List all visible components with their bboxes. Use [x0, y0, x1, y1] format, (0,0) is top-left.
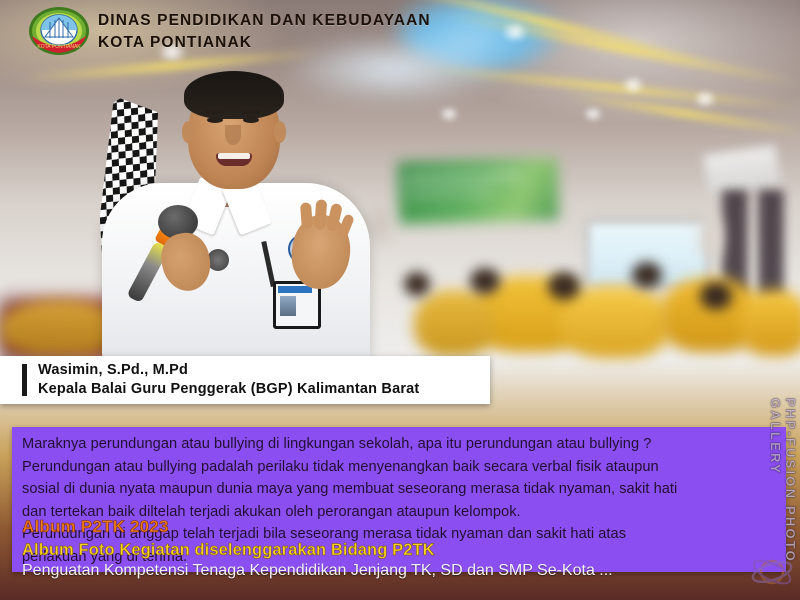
eye-left	[207, 117, 223, 123]
speaker-name-caption: Wasimin, S.Pd., M.Pd Kepala Balai Guru P…	[0, 356, 490, 404]
album-title: Album P2TK 2023	[22, 517, 169, 537]
speaker-name: Wasimin, S.Pd., M.Pd	[38, 361, 419, 380]
green-stage-banner	[397, 158, 559, 224]
eyebrow-left	[205, 110, 224, 114]
svg-text:KOTA PONTIANAK: KOTA PONTIANAK	[37, 44, 81, 50]
header-title-line2: KOTA PONTIANAK	[98, 32, 431, 54]
window-curtain	[758, 190, 784, 300]
speaker-position: Kepala Balai Guru Penggerak (BGP) Kalima…	[38, 380, 419, 399]
hair	[184, 71, 284, 119]
speaker-figure	[70, 65, 410, 355]
id-card-photo	[280, 296, 296, 316]
audience-head	[470, 268, 500, 294]
nose	[225, 125, 241, 145]
php-fusion-planet-logo-icon	[750, 548, 794, 592]
audience-head	[548, 272, 580, 300]
banner-text-blur	[404, 190, 494, 197]
audience-head	[632, 262, 662, 288]
header-title: DINAS PENDIDIKAN DAN KEBUDAYAAN KOTA PON…	[98, 10, 431, 54]
ceiling-downlight	[436, 108, 462, 120]
finger	[314, 199, 327, 230]
eye-right	[243, 117, 259, 123]
teeth	[218, 153, 250, 159]
id-card-header	[278, 286, 312, 293]
album-description: Penguatan Kompetensi Tenaga Kependidikan…	[22, 562, 613, 580]
caption-text: Wasimin, S.Pd., M.Pd Kepala Balai Guru P…	[38, 361, 419, 399]
gallery-photo-view: KOTA PONTIANAK DINAS PENDIDIKAN DAN KEBU…	[0, 0, 800, 600]
audience-seat	[414, 290, 494, 356]
eyebrow-right	[241, 110, 260, 114]
banner-text-blur	[404, 173, 524, 182]
lapel-pin-badge	[207, 249, 229, 271]
page-header: KOTA PONTIANAK DINAS PENDIDIKAN DAN KEBU…	[0, 0, 800, 62]
ceiling-downlight	[690, 92, 720, 106]
description-line: Maraknya perundungan atau bullying di li…	[22, 433, 778, 456]
ear-left	[182, 121, 194, 143]
album-subtitle: Album Foto Kegiatan diselenggarakan Bida…	[22, 541, 435, 560]
description-line: Perundungan atau bullying padalah perila…	[22, 456, 778, 479]
audience-seat	[560, 286, 670, 358]
finger	[300, 202, 313, 229]
audience-head	[700, 282, 732, 310]
standing-person	[700, 218, 722, 256]
description-line: sosial di dunia nyata maupun dunia maya …	[22, 478, 778, 501]
audience-seat	[740, 290, 800, 356]
header-title-line1: DINAS PENDIDIKAN DAN KEBUDAYAAN	[98, 10, 431, 32]
ceiling-downlight	[618, 78, 648, 92]
mouth	[216, 153, 252, 166]
ear-right	[274, 121, 286, 143]
ceiling-downlight	[580, 108, 606, 120]
dinas-pendidikan-seal-icon: KOTA PONTIANAK	[28, 6, 90, 58]
caption-accent-bar	[22, 364, 27, 396]
